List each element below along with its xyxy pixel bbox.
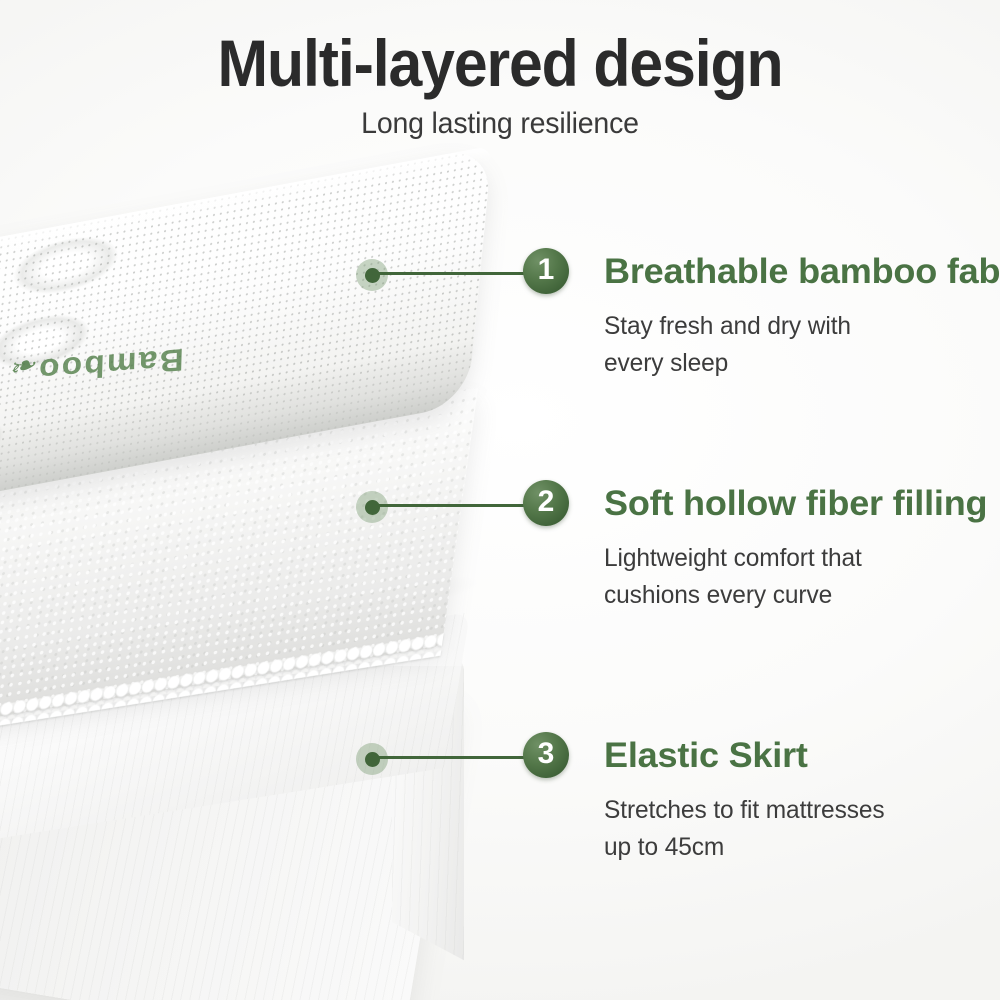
product-illustration: ❧ ❧ ❧ ❧ Bamboo	[0, 0, 520, 1000]
page-subtitle: Long lasting resilience	[25, 99, 975, 141]
callout-body-line: cushions every curve	[604, 577, 862, 614]
callout-body-line: Lightweight comfort that	[604, 540, 862, 577]
infographic-canvas: ❧ ❧ ❧ ❧ Bamboo Multi-layered design Long…	[0, 0, 1000, 1000]
callout-body-3: Stretches to fit mattresses up to 45cm	[604, 792, 885, 866]
step-badge-3: 3	[523, 732, 569, 778]
callout-body-1: Stay fresh and dry with every sleep	[604, 308, 851, 382]
callout-body-2: Lightweight comfort that cushions every …	[604, 540, 862, 614]
callout-body-line: Stretches to fit mattresses	[604, 792, 885, 829]
bamboo-leaf-icon: ❧	[10, 348, 38, 382]
page-title: Multi-layered design	[40, 0, 960, 99]
leader-line-3	[372, 756, 546, 759]
callout-body-line: every sleep	[604, 345, 851, 382]
step-badge-2: 2	[523, 480, 569, 526]
callout-heading-2: Soft hollow fiber filling	[604, 484, 987, 524]
step-badge-number-3: 3	[538, 739, 555, 769]
leader-line-1	[372, 272, 546, 275]
step-badge-1: 1	[523, 248, 569, 294]
callout-heading-3: Elastic Skirt	[604, 736, 808, 776]
callout-heading-1: Breathable bamboo fabric	[604, 252, 1000, 292]
leader-line-2	[372, 504, 546, 507]
callout-body-line: up to 45cm	[604, 829, 885, 866]
step-badge-number-2: 2	[538, 487, 555, 517]
header-block: Multi-layered design Long lasting resili…	[0, 0, 1000, 141]
leader-dot-2	[356, 491, 388, 523]
leader-dot-3	[356, 743, 388, 775]
step-badge-number-1: 1	[538, 255, 555, 285]
leader-dot-1	[356, 259, 388, 291]
callout-body-line: Stay fresh and dry with	[604, 308, 851, 345]
